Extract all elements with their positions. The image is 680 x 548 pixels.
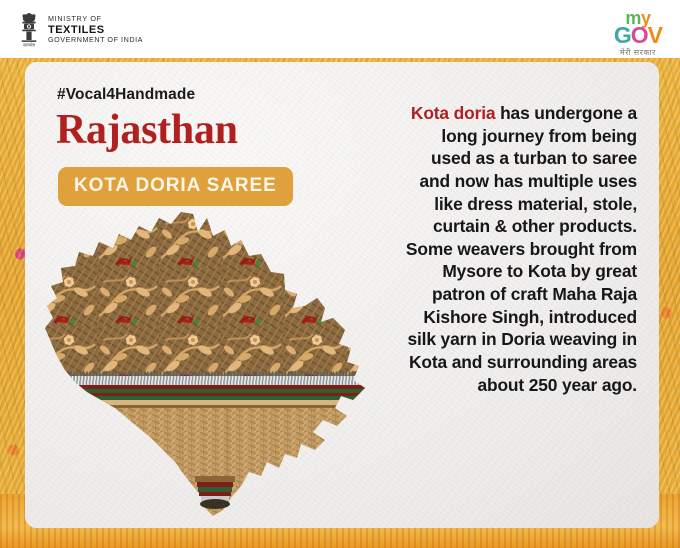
campaign-hashtag[interactable]: #Vocal4Handmade: [57, 86, 195, 104]
craft-badge: KOTA DORIA SAREE: [58, 167, 293, 206]
ministry-line-3: GOVERNMENT OF INDIA: [48, 36, 143, 44]
mygov-letter-g: G: [614, 22, 631, 48]
rajasthan-map-illustration: [35, 210, 391, 520]
mygov-logo[interactable]: my GOV मेरी सरकार: [614, 9, 662, 57]
ministry-line-1: MINISTRY OF: [48, 15, 143, 23]
ashoka-emblem-icon: सत्यमेव: [17, 12, 41, 48]
rajasthan-map-svg: [35, 210, 391, 520]
map-textile-fill: [35, 210, 391, 520]
saree-border-stripes: [35, 376, 391, 408]
mygov-tagline: मेरी सरकार: [614, 49, 662, 57]
mygov-letter-v: V: [648, 22, 662, 48]
mygov-letter-o: O: [631, 22, 648, 48]
content-card: #Vocal4Handmade Rajasthan KOTA DORIA SAR…: [25, 62, 659, 528]
mygov-gov-text: GOV: [614, 24, 662, 47]
saree-tassel: [195, 476, 235, 509]
poster-canvas: सत्यमेव MINISTRY OF TEXTILES GOVERNMENT …: [0, 0, 680, 548]
ministry-of-textiles-logo: सत्यमेव MINISTRY OF TEXTILES GOVERNMENT …: [17, 12, 143, 48]
description-text: has undergone a long journey from being …: [406, 103, 637, 395]
card-left-column: #Vocal4Handmade Rajasthan KOTA DORIA SAR…: [25, 62, 397, 528]
craft-name-highlight: Kota doria: [411, 103, 496, 123]
card-right-column: Kota doria has undergone a long journey …: [397, 62, 659, 528]
page-title: Rajasthan: [56, 106, 238, 154]
header-bar: सत्यमेव MINISTRY OF TEXTILES GOVERNMENT …: [0, 0, 680, 58]
description-paragraph: Kota doria has undergone a long journey …: [403, 80, 637, 396]
svg-text:सत्यमेव: सत्यमेव: [23, 43, 35, 48]
